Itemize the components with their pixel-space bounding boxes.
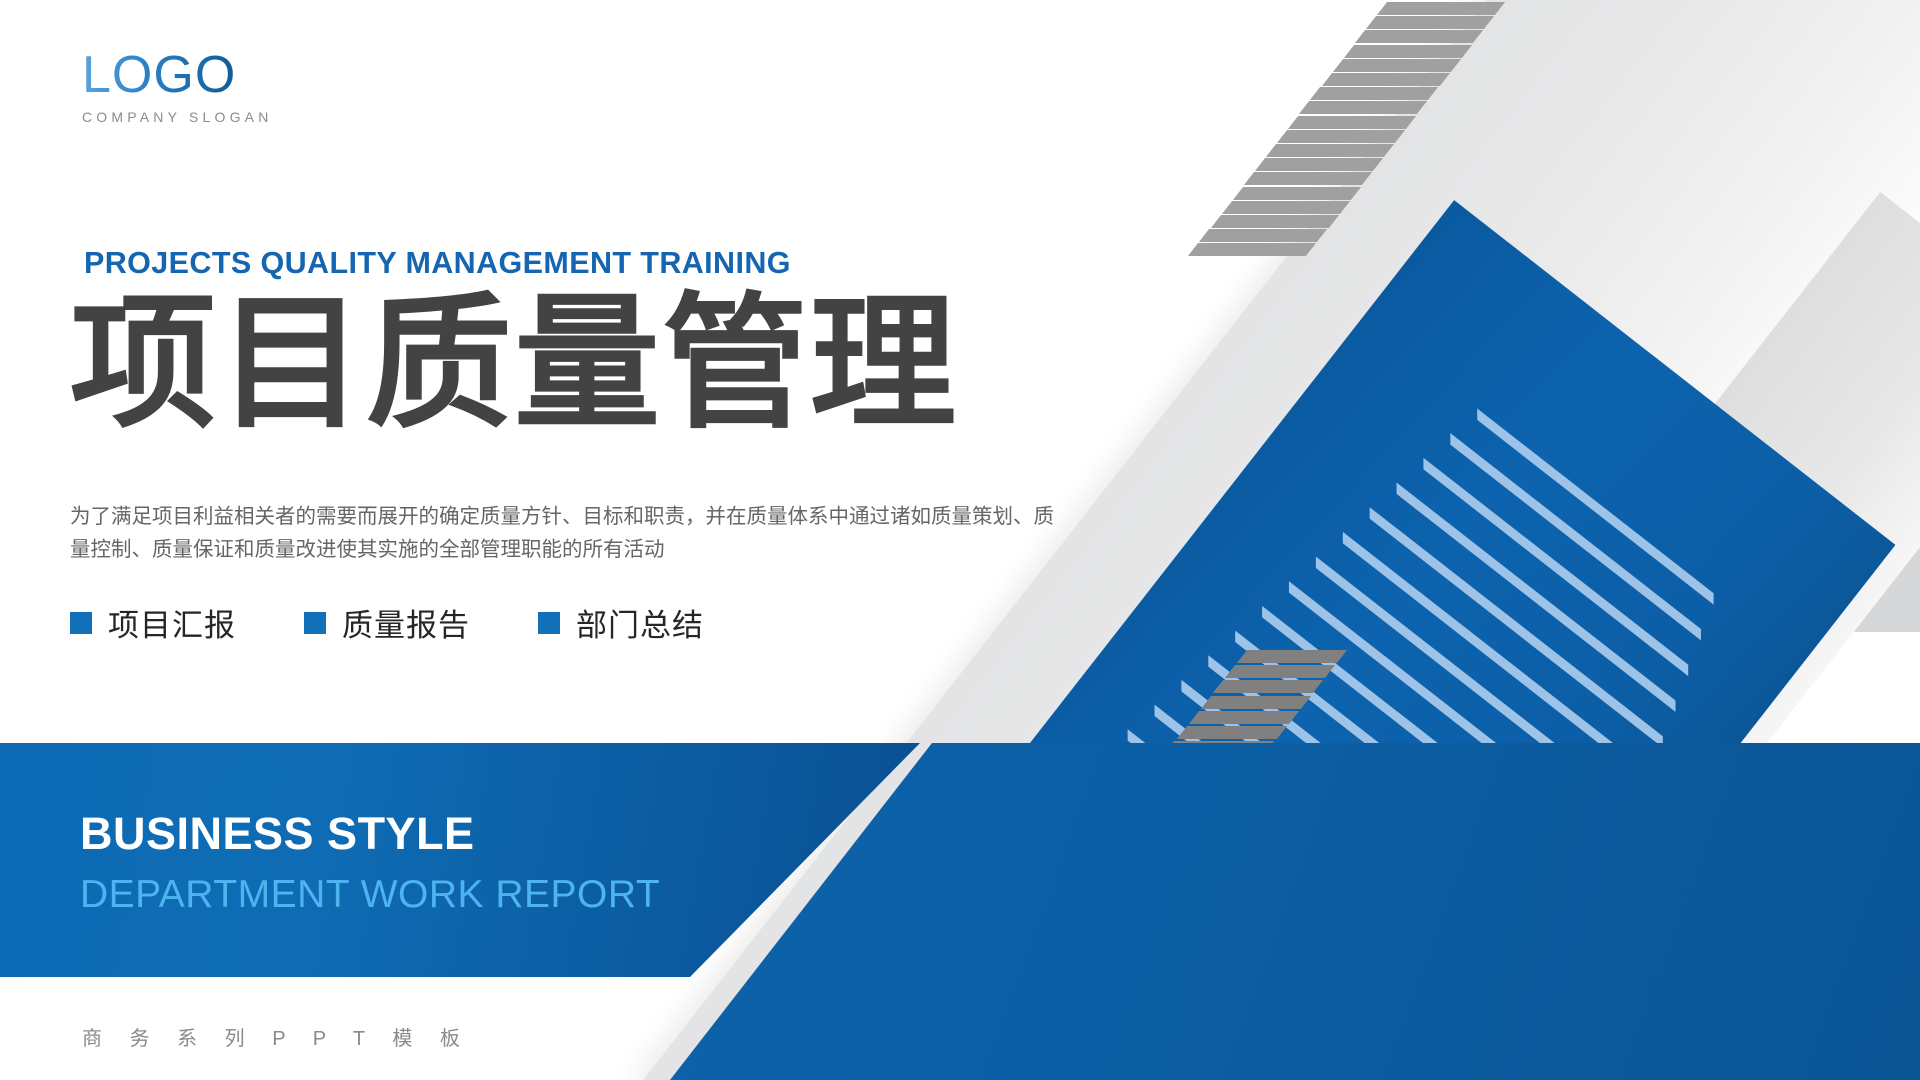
slide-content: LOGO COMPANY SLOGAN PROJECTS QUALITY MAN… — [0, 0, 1920, 1080]
bullet-item[interactable]: 项目汇报 — [70, 600, 236, 645]
logo-slogan: COMPANY SLOGAN — [82, 109, 273, 125]
eyebrow-subtitle: PROJECTS QUALITY MANAGEMENT TRAINING — [84, 246, 791, 281]
logo-text: LOGO — [82, 48, 273, 103]
slide-canvas: LOGO COMPANY SLOGAN PROJECTS QUALITY MAN… — [0, 0, 1920, 1080]
bullet-square-icon — [538, 612, 560, 634]
description-paragraph: 为了满足项目利益相关者的需要而展开的确定质量方针、目标和职责，并在质量体系中通过… — [70, 500, 1060, 566]
banner-subtitle: DEPARTMENT WORK REPORT — [80, 873, 660, 917]
footer-text: 商 务 系 列 P P T 模 板 — [82, 1022, 471, 1051]
logo-block: LOGO COMPANY SLOGAN — [82, 48, 273, 125]
page-title: 项目质量管理 — [70, 288, 958, 440]
bullet-item[interactable]: 部门总结 — [538, 600, 704, 645]
banner-title: BUSINESS STYLE — [80, 808, 475, 860]
bullet-item-label: 项目汇报 — [108, 600, 236, 645]
bullet-item-label: 部门总结 — [576, 600, 704, 645]
bullet-square-icon — [70, 612, 92, 634]
bullet-item-label: 质量报告 — [342, 600, 470, 645]
bullet-list: 项目汇报质量报告部门总结 — [70, 600, 772, 645]
bullet-item[interactable]: 质量报告 — [304, 600, 470, 645]
bullet-square-icon — [304, 612, 326, 634]
